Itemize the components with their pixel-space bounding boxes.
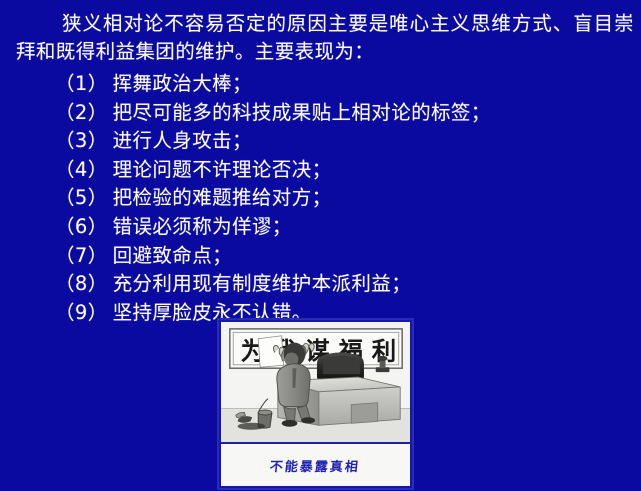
intro-paragraph-block: 狭义相对论不容易否定的原因主要是唯心主义思维方式、盲目崇拜和既得利益集团的维护。…: [16, 10, 634, 66]
list-item: （5）把检验的难题推给对方；: [55, 184, 615, 213]
list-item-label: 错误必须称为佯谬；: [113, 215, 292, 238]
list-item-label: 充分利用现有制度维护本派利益；: [113, 272, 412, 295]
list-item-number: （6）: [55, 213, 108, 242]
slide-canvas: 狭义相对论不容易否定的原因主要是唯心主义思维方式、盲目崇拜和既得利益集团的维护。…: [0, 0, 641, 491]
cartoon-caption-band: 不能暴露真相: [221, 444, 410, 486]
list-item: （7）回避致命点；: [55, 242, 615, 271]
list-item: （4）理论问题不许理论否决；: [55, 156, 615, 185]
list-item: （3）进行人身攻击；: [55, 127, 615, 156]
cartoon-illustration: 为 我 谋 福 利: [217, 318, 414, 490]
list-item-number: （4）: [55, 156, 108, 185]
list-item-number: （1）: [55, 70, 108, 99]
list-item-number: （9）: [55, 299, 108, 328]
list-item: （1）挥舞政治大棒；: [55, 70, 615, 99]
banner-board: 为 我 谋 福 利: [230, 329, 402, 368]
reason-list: （1）挥舞政治大棒； （2）把尽可能多的科技成果贴上相对论的标签； （3）进行人…: [55, 70, 615, 327]
list-item-label: 回避致命点；: [113, 244, 232, 267]
list-item-number: （3）: [55, 127, 108, 156]
list-item-label: 进行人身攻击；: [113, 129, 252, 152]
list-item: （2）把尽可能多的科技成果贴上相对论的标签；: [55, 99, 615, 128]
list-item-number: （2）: [55, 99, 108, 128]
cartoon-scene: 为 我 谋 福 利: [221, 322, 410, 444]
list-item: （8）充分利用现有制度维护本派利益；: [55, 270, 615, 299]
list-item-label: 把检验的难题推给对方；: [113, 186, 332, 209]
list-item-label: 挥舞政治大棒；: [113, 72, 252, 95]
list-item-number: （8）: [55, 270, 108, 299]
list-item: （6）错误必须称为佯谬；: [55, 213, 615, 242]
list-item-number: （7）: [55, 242, 108, 271]
cartoon-drawing: 为 我 谋 福 利: [221, 322, 410, 442]
cartoon-caption: 不能暴露真相: [269, 456, 361, 475]
list-item-label: 理论问题不许理论否决；: [113, 158, 332, 181]
cartoon-inner-frame: 为 我 谋 福 利: [221, 322, 410, 486]
intro-paragraph: 狭义相对论不容易否定的原因主要是唯心主义思维方式、盲目崇拜和既得利益集团的维护。…: [16, 10, 634, 66]
list-item-number: （5）: [55, 184, 108, 213]
list-item-label: 把尽可能多的科技成果贴上相对论的标签；: [113, 101, 491, 124]
